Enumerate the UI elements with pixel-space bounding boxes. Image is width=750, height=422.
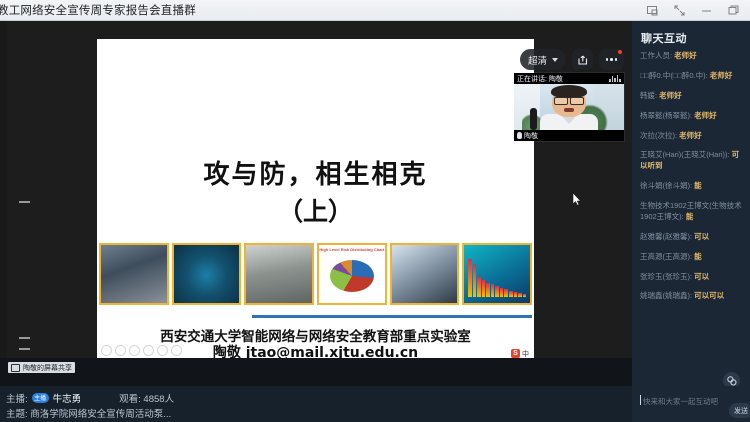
screen-edge-mark	[19, 201, 30, 203]
glasses-icon	[554, 97, 584, 103]
chat-message-text: 老师好	[710, 71, 733, 80]
menu-icon[interactable]	[171, 345, 182, 356]
chat-message-author: 王晓艾(Hari)(王晓艾(Hari)):	[640, 150, 732, 159]
slide-image-strip: High Level Risk Distributing Chart	[99, 243, 532, 305]
screen-share-label: 陶敬的屏幕共享	[23, 363, 72, 373]
slideshow-controls[interactable]	[101, 345, 182, 356]
chat-message: 张珍玉(张珍玉): 可以	[640, 272, 742, 283]
chat-panel: 聊天互动 工作人员: 老师好□□醉0.中(□□醉0.中): 老师好韩媛: 老师好…	[632, 21, 750, 422]
chat-message-author: 工作人员:	[640, 51, 674, 60]
ime-language-label: 中	[522, 349, 529, 359]
slide-chart-caption: High Level Risk Distributing Chart	[319, 247, 385, 252]
chat-message-author: 张珍玉(张珍玉):	[640, 272, 694, 281]
chat-message-text: 老师好	[659, 91, 682, 100]
live-stream-window: 教工网络安全宣传周专家报告会直播群 攻与防，相生相克	[0, 0, 750, 422]
slide-photo	[244, 243, 314, 305]
share-button[interactable]	[572, 49, 593, 70]
more-icon	[606, 58, 618, 61]
chat-message-text: 老师好	[674, 51, 697, 60]
slide-photo	[390, 243, 460, 305]
viewer-count: 观看: 4858人	[119, 391, 174, 405]
chat-message-text: 可以	[694, 232, 709, 241]
speaker-video-pip[interactable]: 正在讲话: 陶敬 陶敬	[514, 73, 624, 141]
screen-share-bar	[0, 358, 632, 386]
audio-wave-icon	[609, 75, 621, 82]
stream-status-bar: 主播: 主播 牛志勇 观看: 4858人 主题: 商洛学院网络安全宣传周活动泵.…	[0, 386, 632, 422]
speaker-camera-feed	[514, 84, 624, 130]
slide-photo	[99, 243, 169, 305]
chat-input-placeholder: 快来和大家一起互动吧	[643, 396, 718, 407]
chat-message-text: 能	[686, 212, 694, 221]
chat-message-text: 老师好	[679, 131, 702, 140]
chat-message: 赵雅馨(赵雅馨): 可以	[640, 232, 742, 243]
chat-message: 杨翠懿(杨翠懿): 老师好	[640, 111, 742, 122]
slide-divider	[252, 315, 532, 318]
chat-message-text: 老师好	[694, 111, 717, 120]
zoom-icon[interactable]	[157, 345, 168, 356]
stream-topic: 主题: 商洛学院网络安全宣传周活动泵...	[6, 406, 171, 420]
chat-message-author: 韩媛:	[640, 91, 659, 100]
speaking-status-label: 正在讲话: 陶敬	[517, 74, 563, 84]
chat-message-author: 杨翠懿(杨翠懿):	[640, 111, 694, 120]
chat-message-author: 王高源(王高源):	[640, 252, 694, 261]
host-badge: 主播	[32, 393, 49, 403]
chat-message: 王高源(王高源): 能	[640, 252, 742, 263]
screen-share-indicator[interactable]: 陶敬的屏幕共享	[8, 362, 75, 373]
window-controls	[646, 4, 750, 17]
chat-message-author: 徐斗娟(徐斗娟):	[640, 181, 694, 190]
slide-bar-chart	[462, 243, 532, 305]
chat-message-text: 可以	[694, 272, 709, 281]
minimize-icon[interactable]	[700, 4, 713, 17]
more-options-button[interactable]	[599, 49, 624, 70]
video-toolbar: 超清	[520, 49, 624, 70]
emoji-icon	[727, 376, 737, 386]
send-label: 发送	[734, 406, 748, 416]
chat-message: 工作人员: 老师好	[640, 51, 742, 62]
chat-message: 生物技术1902王博文(生物技术1902王博文): 能	[640, 201, 742, 223]
presentation-slide: 攻与防，相生相克 （上） High Level Risk Distributin…	[97, 39, 534, 362]
speaker-name-label: 陶敬	[524, 131, 538, 141]
host-label: 主播:	[6, 391, 28, 405]
quality-selector[interactable]: 超清	[520, 49, 566, 70]
speaker-mouth	[564, 108, 574, 112]
chat-input-area[interactable]: 快来和大家一起互动吧 发送	[632, 386, 750, 422]
chat-message-author: 姚瑞鑫(姚瑞鑫):	[640, 291, 694, 300]
quality-label: 超清	[528, 53, 547, 67]
pip-footer: 陶敬	[514, 130, 624, 141]
slide-title: 攻与防，相生相克	[97, 154, 534, 191]
topic-row: 主题: 商洛学院网络安全宣传周活动泵...	[6, 405, 632, 420]
send-button[interactable]: 发送	[729, 403, 750, 418]
chat-message-text: 能	[694, 252, 702, 261]
host-name: 牛志勇	[53, 391, 82, 405]
chat-message: 次拉(次拉): 老师好	[640, 131, 742, 142]
notification-dot	[618, 50, 622, 54]
bar-chart-graphic	[468, 259, 526, 297]
window-title-bar: 教工网络安全宣传周专家报告会直播群	[0, 0, 750, 21]
chat-message-author: □□醉0.中(□□醉0.中):	[640, 71, 710, 80]
screen-edge-mark	[19, 337, 30, 350]
share-icon	[577, 54, 589, 66]
mouse-cursor	[573, 193, 582, 206]
host-row: 主播: 主播 牛志勇 观看: 4858人	[6, 390, 632, 405]
slide-pie-chart: High Level Risk Distributing Chart	[317, 243, 387, 305]
prev-slide-icon[interactable]	[101, 345, 112, 356]
slide-photo	[172, 243, 242, 305]
slide-content: 攻与防，相生相克 （上） High Level Risk Distributin…	[97, 39, 534, 362]
chat-message-text: 可以可以	[694, 291, 724, 300]
ime-logo-icon: S	[511, 349, 520, 358]
pen-icon[interactable]	[129, 345, 140, 356]
window-title: 教工网络安全宣传周专家报告会直播群	[0, 2, 196, 18]
video-stage: 攻与防，相生相克 （上） High Level Risk Distributin…	[0, 21, 632, 358]
chat-message: 韩媛: 老师好	[640, 91, 742, 102]
shrink-window-icon[interactable]	[673, 4, 686, 17]
chat-message-text: 能	[694, 181, 702, 190]
chat-message: 徐斗娟(徐斗娟): 能	[640, 181, 742, 192]
chat-message-author: 次拉(次拉):	[640, 131, 679, 140]
chat-message: 姚瑞鑫(姚瑞鑫): 可以可以	[640, 291, 742, 302]
chat-message-author: 赵雅馨(赵雅馨):	[640, 232, 694, 241]
chat-message: □□醉0.中(□□醉0.中): 老师好	[640, 71, 742, 82]
pointer-icon[interactable]	[143, 345, 154, 356]
pie-chart-graphic	[330, 260, 374, 292]
microphone-icon	[517, 132, 522, 139]
maximize-icon[interactable]	[727, 4, 740, 17]
chat-message-list[interactable]: 工作人员: 老师好□□醉0.中(□□醉0.中): 老师好韩媛: 老师好杨翠懿(杨…	[632, 51, 750, 356]
pip-header: 正在讲话: 陶敬	[514, 73, 624, 84]
chevron-down-icon	[552, 58, 558, 62]
microphone-stand	[530, 108, 537, 130]
slide-subtitle: （上）	[97, 192, 534, 228]
next-slide-icon[interactable]	[115, 345, 126, 356]
chat-panel-title: 聊天互动	[641, 30, 687, 46]
text-caret	[640, 395, 641, 405]
shared-screen-area: 攻与防，相生相克 （上） High Level Risk Distributin…	[7, 21, 632, 358]
screen-icon	[11, 364, 20, 372]
chat-message: 王晓艾(Hari)(王晓艾(Hari)): 可以听到	[640, 150, 742, 172]
snapshot-icon[interactable]	[646, 4, 659, 17]
